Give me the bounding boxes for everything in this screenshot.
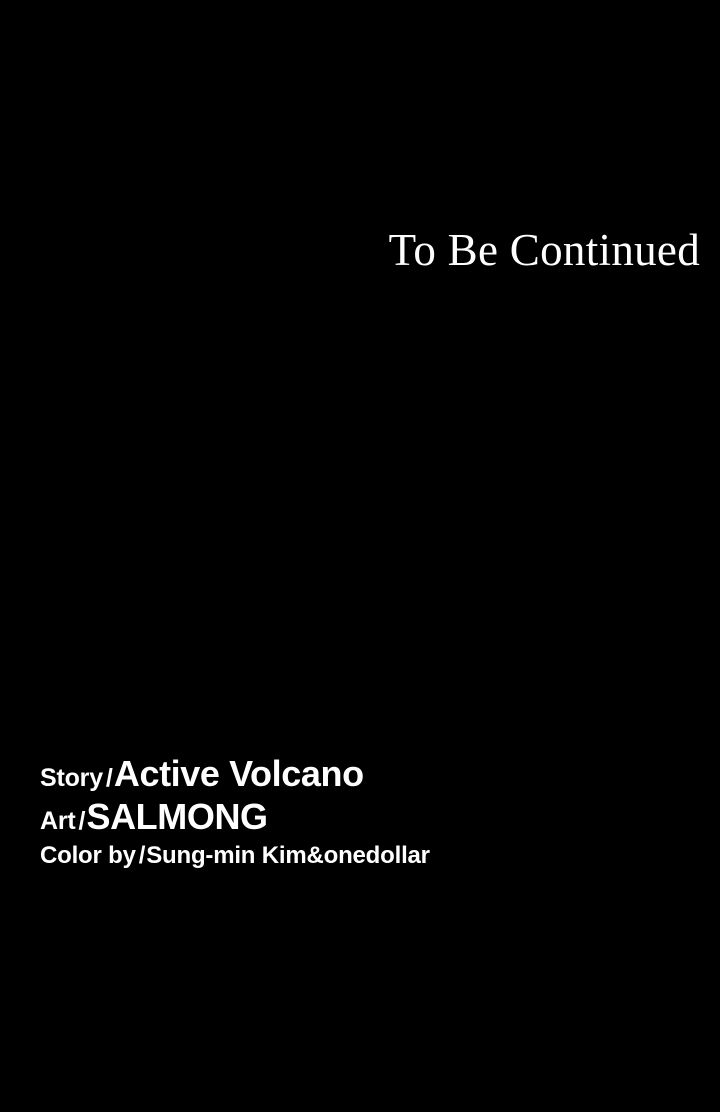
credit-label-story: Story <box>40 764 103 792</box>
credit-separator-story: / <box>103 764 114 792</box>
credit-value-color: Sung-min Kim&onedollar <box>146 842 430 869</box>
credit-label-color: Color by <box>40 842 136 869</box>
credit-value-story: Active Volcano <box>114 753 364 794</box>
credits-block: Story/Active Volcano Art/SALMONG Color b… <box>40 756 430 868</box>
credit-line-story: Story/Active Volcano <box>40 756 430 792</box>
credit-separator-art: / <box>76 807 87 835</box>
credit-separator-color: / <box>136 842 146 869</box>
to-be-continued-text: To Be Continued <box>389 228 700 273</box>
credit-value-art: SALMONG <box>86 796 267 837</box>
credit-label-art: Art <box>40 807 76 835</box>
credit-line-art: Art/SALMONG <box>40 799 430 835</box>
credit-line-color: Color by/Sung-min Kim&onedollar <box>40 844 430 868</box>
comic-end-page: To Be Continued Story/Active Volcano Art… <box>0 0 720 1112</box>
